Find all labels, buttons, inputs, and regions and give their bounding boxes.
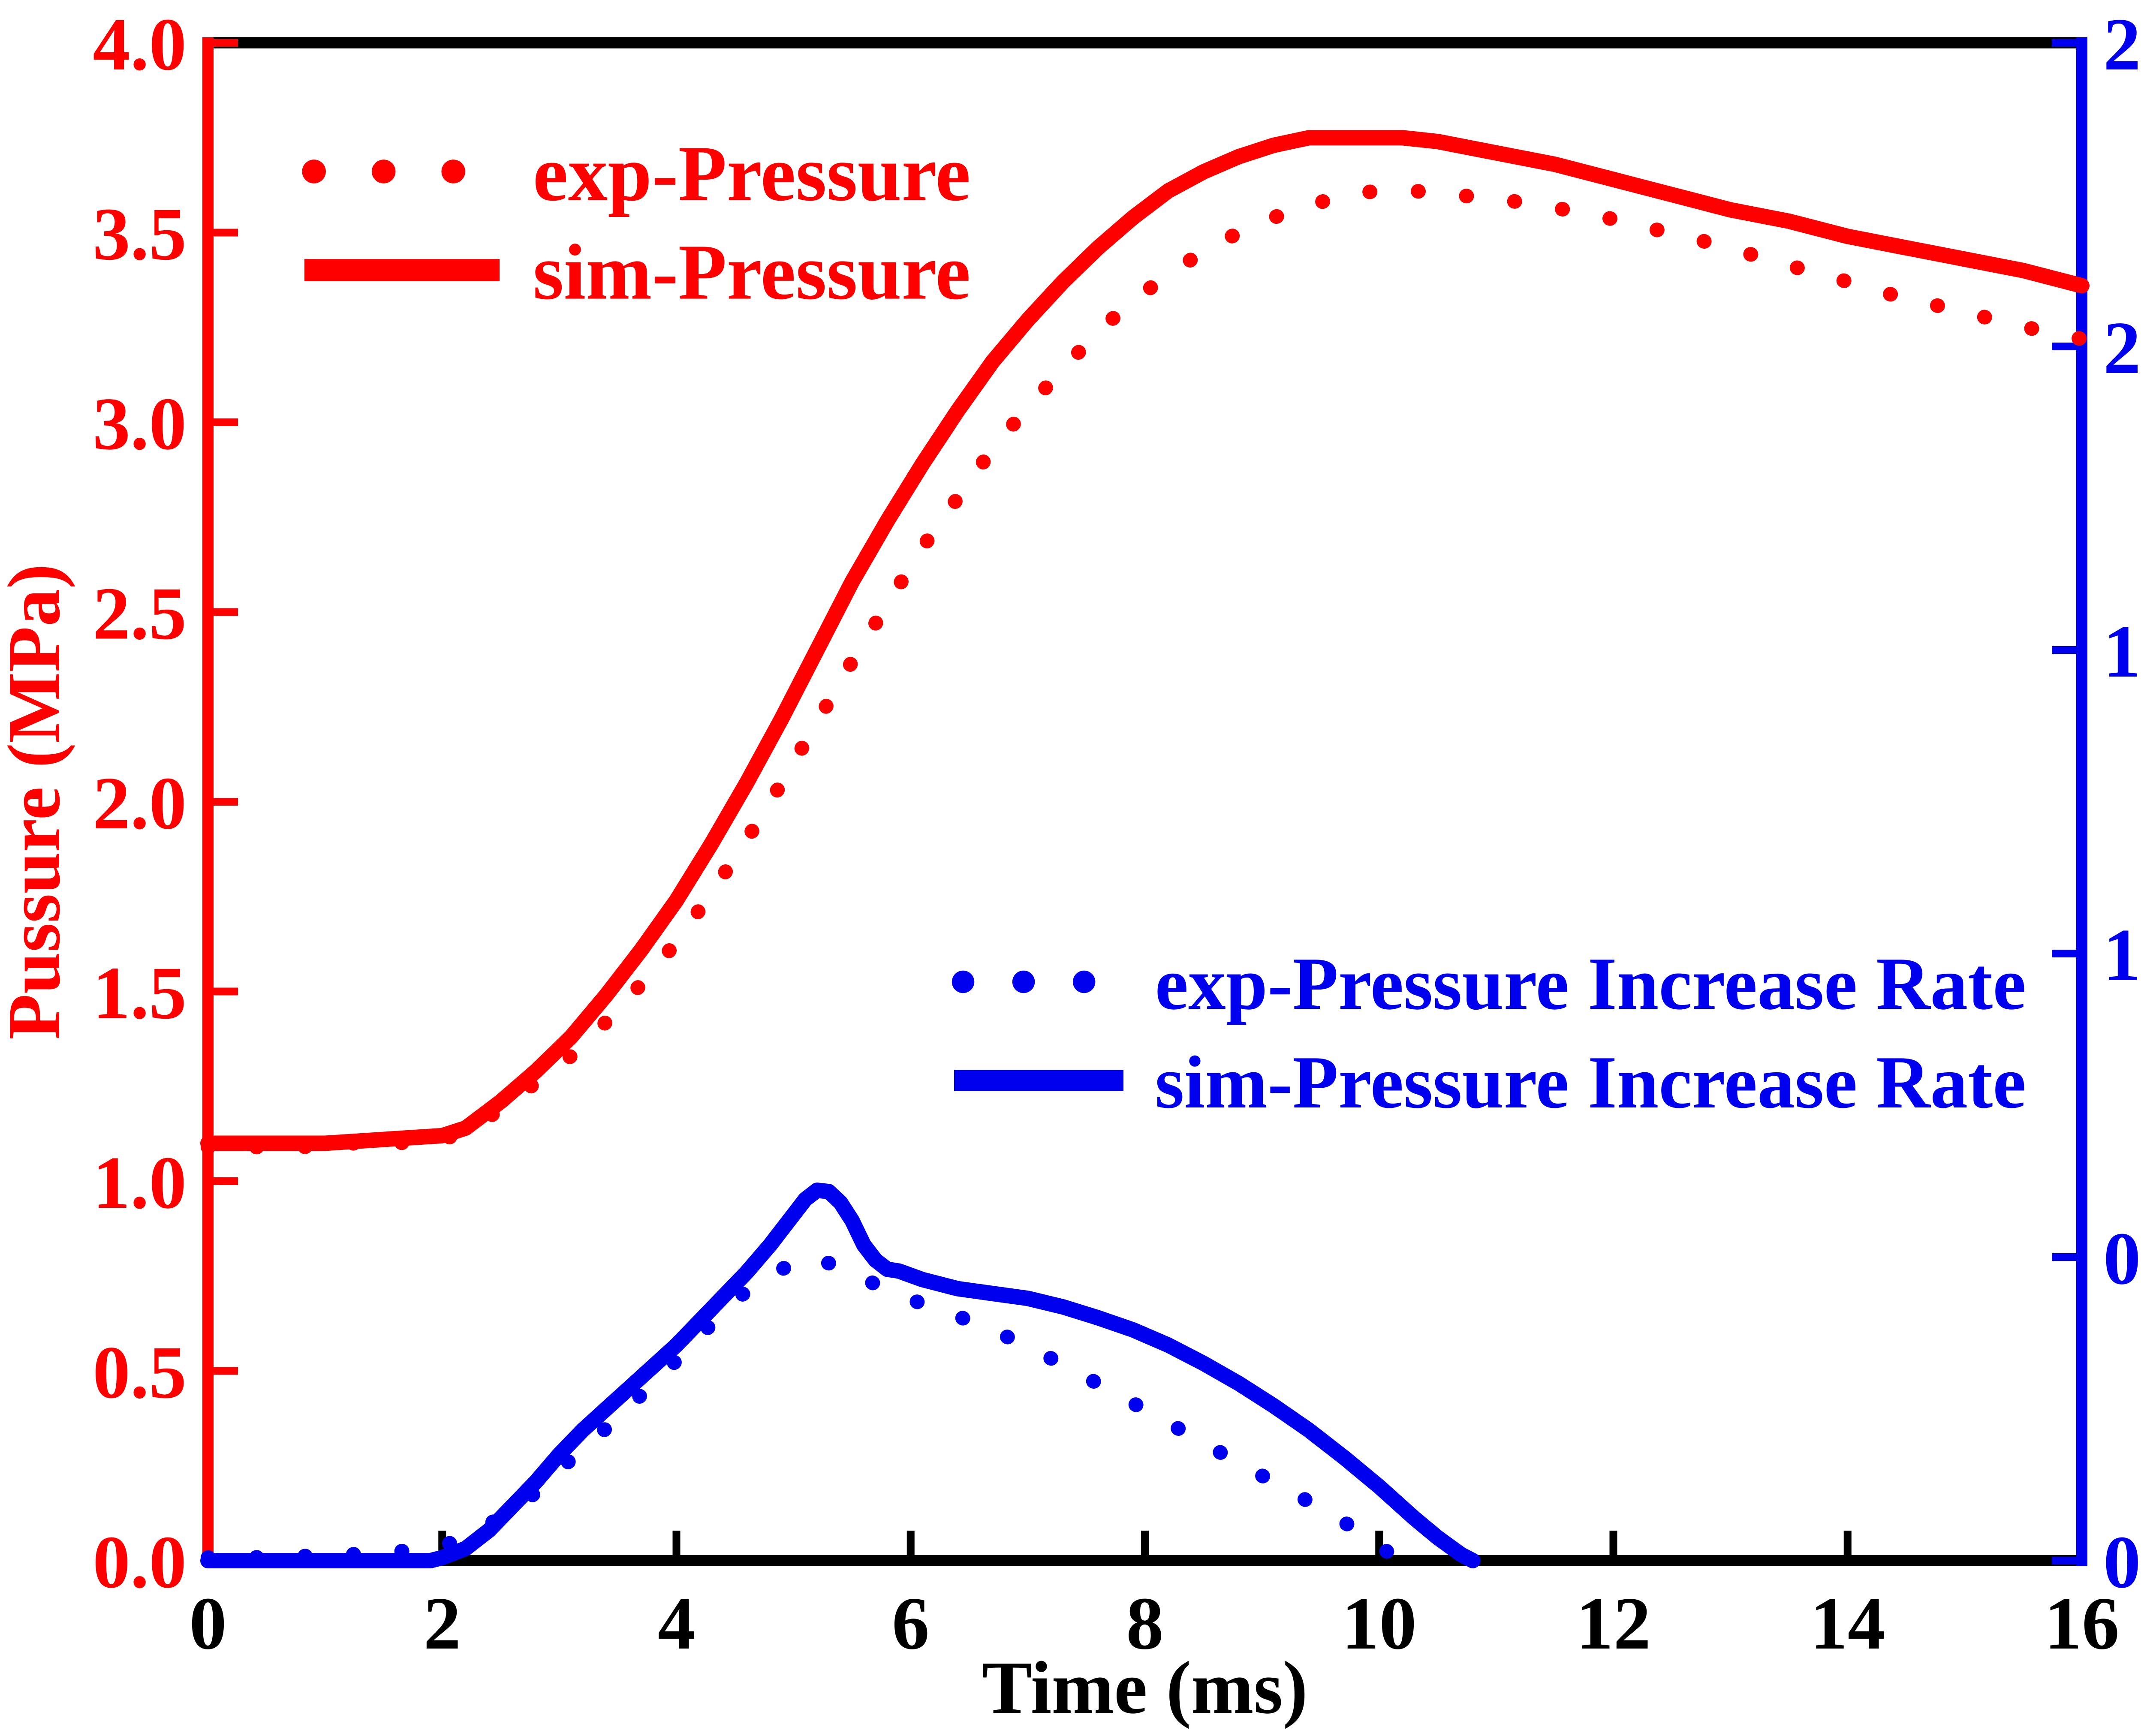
left-y-tick-label: 3.5 [93,193,187,276]
x-tick-label: 0 [189,1582,227,1665]
right-y-tick-label: 0.0 [2103,1520,2144,1604]
right-y-tick-label: 2.5 [2103,3,2144,86]
left-y-axis-title: Pussure (MPa) [0,564,75,1040]
chart-canvas: 0246810121416 0.00.51.01.52.02.53.03.54.… [0,0,2144,1736]
legend-label: sim-Pressure Increase Rate [1155,1041,2026,1124]
legend-swatch-dot [1012,971,1035,993]
legend-swatch-dot [952,971,975,993]
x-tick-label: 12 [1576,1582,1651,1665]
legend-swatch-dot [441,159,465,184]
chart-figure: 0246810121416 0.00.51.01.52.02.53.03.54.… [0,0,2144,1736]
right-y-tick-label: 1.5 [2103,610,2144,693]
legend-label: sim-Pressure [533,229,971,316]
x-tick-label: 4 [658,1582,696,1665]
left-y-tick-label: 4.0 [93,3,187,86]
left-y-tick-label: 0.0 [93,1520,187,1604]
left-y-tick-label: 1.0 [93,1141,187,1224]
legend-swatch-dot [302,159,326,184]
left-y-axis-tick-labels: 0.00.51.01.52.02.53.03.54.0 [93,3,187,1604]
x-tick-label: 10 [1342,1582,1417,1665]
left-y-tick-label: 0.5 [93,1331,187,1414]
right-y-tick-label: 0.5 [2103,1217,2144,1300]
right-y-tick-label: 1.0 [2103,913,2144,996]
x-tick-label: 6 [892,1582,930,1665]
left-y-tick-label: 3.0 [93,382,187,465]
left-y-tick-label: 1.5 [93,951,187,1035]
legend-swatch-dot [1073,971,1096,993]
legend-label: exp-Pressure [533,130,971,218]
x-tick-label: 2 [424,1582,461,1665]
x-axis-title: Time (ms) [982,1646,1308,1729]
x-tick-label: 14 [1810,1582,1885,1665]
right-y-tick-label: 2.0 [2103,306,2144,389]
legend-swatch-dot [372,159,396,184]
left-y-tick-label: 2.0 [93,761,187,845]
legend-label: exp-Pressure Increase Rate [1155,942,2026,1025]
left-y-tick-label: 2.5 [93,572,187,655]
